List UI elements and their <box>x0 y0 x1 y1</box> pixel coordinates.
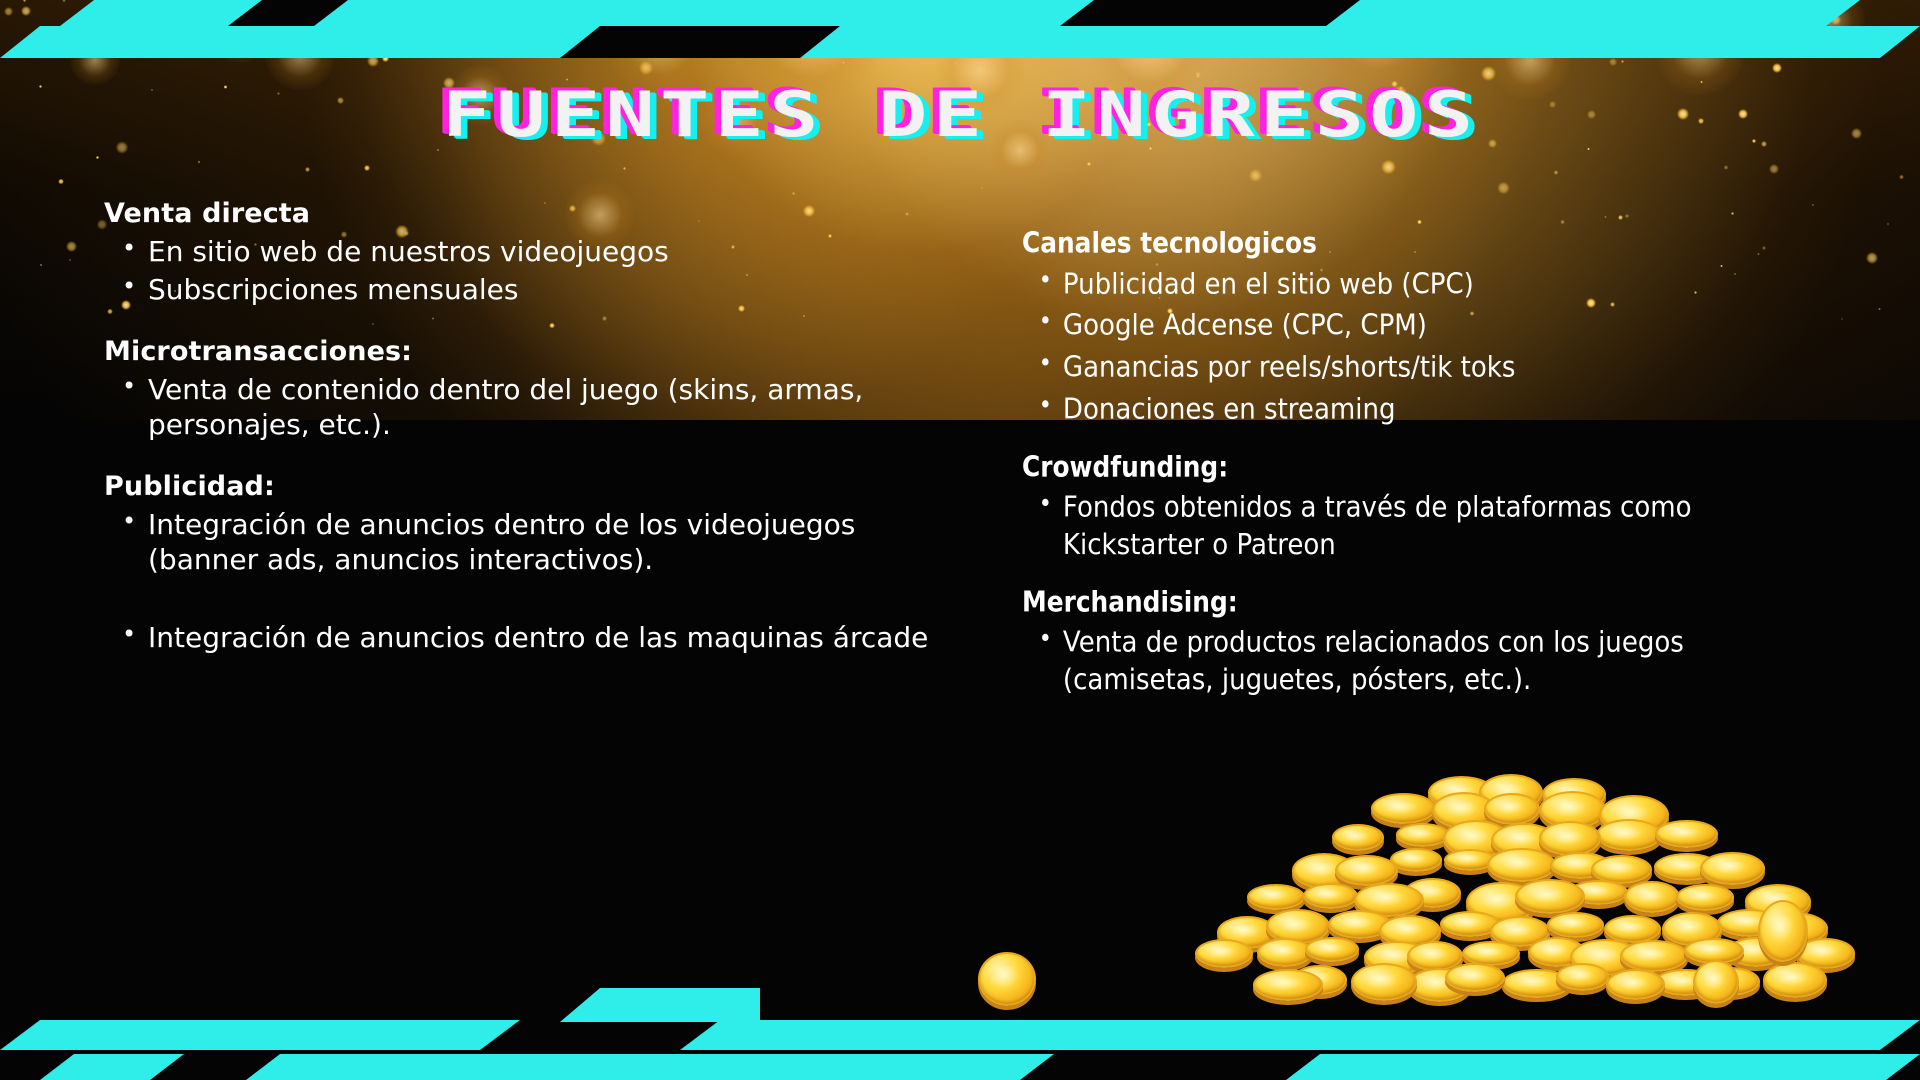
spark-dot <box>244 4 248 8</box>
spark-dot <box>1604 216 1607 219</box>
bullet-list: Publicidad en el sitio web (CPC)Google A… <box>1022 266 1862 426</box>
gold-coin <box>1624 881 1680 913</box>
list-item: Google Adcense (CPC, CPM) <box>1022 307 1803 344</box>
spark-dot <box>1878 308 1880 310</box>
block-heading: Canales tecnologicos <box>1022 227 1795 260</box>
list-item: Donaciones en streaming <box>1022 390 1803 427</box>
spark-dot <box>96 9 101 14</box>
spark-dot <box>1270 28 1273 31</box>
frame-bar-top-notch-mid <box>560 26 840 58</box>
spark-dot <box>1119 3 1121 5</box>
gold-coin <box>1763 962 1827 998</box>
gold-coin <box>1620 940 1688 971</box>
gold-coin <box>1596 819 1662 851</box>
spark-dot <box>623 167 626 170</box>
spark-dot <box>407 1 415 9</box>
gold-coin <box>1247 884 1305 910</box>
spark-dot <box>1091 19 1093 21</box>
spark-dot <box>1166 2 1171 7</box>
frame-bar-top-notch-left <box>228 0 348 26</box>
spark-dot <box>1087 162 1091 166</box>
frame-bar-bottom-2 <box>40 1054 1920 1080</box>
lens-flare <box>213 8 268 63</box>
spark-dot <box>322 2 326 6</box>
gold-coin <box>1676 884 1734 910</box>
spark-dot <box>1769 164 1779 174</box>
spark-dot <box>300 46 304 50</box>
spark-dot <box>1621 60 1624 63</box>
spark-dot <box>443 4 446 7</box>
spark-dot <box>663 13 665 15</box>
spark-dot <box>825 0 827 1</box>
spark-dot <box>367 55 379 67</box>
spark-dot <box>1456 4 1460 8</box>
spark-dot <box>382 55 389 62</box>
spark-dot <box>842 61 845 64</box>
gold-coin <box>1515 879 1585 914</box>
spark-dot <box>1899 175 1903 179</box>
list-item: Venta de contenido dentro del juego (ski… <box>104 372 964 443</box>
gold-coin <box>1655 820 1717 849</box>
spark-dot <box>23 0 26 2</box>
spark-dot <box>887 0 890 2</box>
spark-dot <box>317 38 319 40</box>
spark-dot <box>1618 215 1623 220</box>
gold-coin <box>1305 937 1360 962</box>
list-item: Ganancias por reels/shorts/tik toks <box>1022 348 1803 385</box>
spark-dot <box>579 2 583 6</box>
spark-dot <box>444 4 447 7</box>
spark-dot <box>1530 12 1542 24</box>
frame-bar-bottom-notch-a <box>150 1054 280 1080</box>
list-item: Integración de anuncios dentro de las ma… <box>104 620 964 656</box>
spark-dot <box>180 43 184 47</box>
content-block: Microtransacciones:Venta de contenido de… <box>104 336 964 443</box>
gold-coin <box>1758 900 1808 962</box>
frame-bar-bottom-notch-b <box>480 1020 720 1050</box>
gold-coin <box>1351 963 1417 1001</box>
gold-coin <box>1396 823 1448 846</box>
spark-dot <box>4 7 12 15</box>
block-heading: Venta directa <box>104 198 964 230</box>
bullet-list: Integración de anuncios dentro de los vi… <box>104 507 964 656</box>
gold-coin <box>1335 855 1399 887</box>
bullet-list: En sitio web de nuestros videojuegosSubs… <box>104 234 964 308</box>
spark-dot <box>1609 58 1617 66</box>
slide-canvas: FUENTES DE INGRESOS Venta directaEn siti… <box>0 0 1920 1080</box>
gold-coin <box>1693 960 1739 1004</box>
spark-dot <box>1854 34 1858 38</box>
gold-coin <box>1332 824 1384 851</box>
spark-dot <box>198 161 200 163</box>
gold-coin <box>978 952 1036 1006</box>
spark-dot <box>1512 5 1521 14</box>
spark-dot <box>773 7 785 19</box>
spark-dot <box>792 192 795 195</box>
lens-flare <box>1795 0 1865 55</box>
spark-dot <box>1052 3 1058 9</box>
gold-coin <box>1547 912 1604 938</box>
spark-dot <box>1026 0 1030 2</box>
frame-bar-bottom-notch-c <box>1020 1054 1320 1080</box>
spark-dot <box>1195 71 1202 78</box>
spark-dot <box>1887 223 1889 225</box>
spark-dot <box>1088 0 1090 2</box>
gold-coin <box>1487 848 1556 883</box>
gold-coin <box>1445 963 1505 992</box>
spark-dot <box>1571 0 1586 8</box>
content-block: Publicidad:Integración de anuncios dentr… <box>104 471 964 656</box>
spark-dot <box>1385 28 1391 34</box>
spark-dot <box>1227 0 1229 1</box>
content-block: Canales tecnologicosPublicidad en el sit… <box>1022 228 1862 426</box>
spark-dot <box>1172 22 1178 28</box>
spark-dot <box>321 0 333 10</box>
spark-dot <box>1630 24 1635 29</box>
spark-dot <box>1028 0 1033 3</box>
spark-dot <box>1625 214 1629 218</box>
spark-dot <box>969 17 972 20</box>
spark-dot <box>1417 220 1421 224</box>
gold-coin <box>1700 852 1764 886</box>
gold-coin-pile <box>1138 770 1798 1000</box>
list-item: En sitio web de nuestros videojuegos <box>104 234 964 270</box>
spark-dot <box>1137 19 1143 25</box>
spark-dot <box>1554 170 1558 174</box>
gold-coin <box>1195 939 1253 968</box>
spark-dot <box>21 6 31 16</box>
spark-dot <box>1609 42 1623 56</box>
spark-dot <box>96 156 99 159</box>
block-heading: Crowdfunding: <box>1022 451 1795 484</box>
bullet-list: Fondos obtenidos a través de plataformas… <box>1022 490 1862 561</box>
gold-coin <box>1539 821 1602 856</box>
spark-dot <box>58 179 63 184</box>
spark-dot <box>1132 4 1134 6</box>
bullet-list: Venta de contenido dentro del juego (ski… <box>104 372 964 443</box>
spark-dot <box>1866 252 1878 264</box>
spark-dot <box>1744 6 1750 12</box>
spark-dot <box>1696 0 1711 8</box>
spark-dot <box>1772 63 1782 73</box>
spark-dot <box>1794 44 1801 51</box>
gold-coin <box>1606 969 1666 1000</box>
gold-coin <box>1484 793 1539 825</box>
spark-dot <box>1668 2 1673 7</box>
content-block: Venta directaEn sitio web de nuestros vi… <box>104 198 964 308</box>
spark-dot <box>182 47 189 54</box>
spark-dot <box>731 16 737 22</box>
frame-bar-bottom-step <box>560 988 760 1022</box>
spark-dot <box>305 167 309 171</box>
right-content-column: Canales tecnologicosPublicidad en el sit… <box>1022 228 1862 722</box>
spark-dot <box>1724 165 1728 169</box>
spark-dot <box>1560 220 1565 225</box>
spark-dot <box>954 62 957 65</box>
spark-dot <box>487 0 490 2</box>
spark-dot <box>1381 160 1395 174</box>
gold-coin <box>1556 963 1610 990</box>
spark-dot <box>69 259 71 261</box>
spark-dot <box>590 46 593 49</box>
spark-dot <box>1249 169 1262 182</box>
spark-dot <box>637 13 640 16</box>
spark-dot <box>1400 0 1404 4</box>
gold-coin <box>1253 969 1324 1001</box>
frame-bar-top-2 <box>0 26 1920 58</box>
frame-bar-top-notch-right <box>1060 0 1360 26</box>
block-heading: Publicidad: <box>104 471 964 503</box>
spark-dot <box>1831 15 1841 25</box>
frame-bar-bottom-1 <box>0 1020 1920 1050</box>
spark-dot <box>364 165 370 171</box>
spark-dot <box>1731 212 1733 214</box>
gold-coin <box>1371 793 1437 824</box>
page-title: FUENTES DE INGRESOS <box>0 78 1920 151</box>
list-item: Venta de productos relacionados con los … <box>1022 624 1803 697</box>
bullet-list: Venta de productos relacionados con los … <box>1022 625 1862 696</box>
block-heading: Merchandising: <box>1022 586 1795 619</box>
list-item: Integración de anuncios dentro de los vi… <box>104 507 964 578</box>
frame-bar-top-1 <box>60 0 1860 26</box>
spark-dot <box>288 13 300 25</box>
list-item: Subscripciones mensuales <box>104 272 964 308</box>
spark-dot <box>955 2 957 4</box>
spark-dot <box>981 187 983 189</box>
gold-coin <box>1303 883 1358 909</box>
spark-dot <box>40 264 42 266</box>
left-content-column: Venta directaEn sitio web de nuestros vi… <box>104 198 964 683</box>
block-heading: Microtransacciones: <box>104 336 964 368</box>
spark-dot <box>1449 2 1451 4</box>
spark-dot <box>62 0 65 2</box>
spark-dot <box>66 241 77 252</box>
spark-dot <box>1024 5 1027 8</box>
frame-bar-top-step <box>890 26 1150 58</box>
spark-dot <box>639 61 654 76</box>
content-block: Merchandising:Venta de productos relacio… <box>1022 587 1862 696</box>
content-block: Crowdfunding:Fondos obtenidos a través d… <box>1022 452 1862 561</box>
spark-dot <box>1812 204 1814 206</box>
spark-dot <box>1497 182 1509 194</box>
list-item: Publicidad en el sitio web (CPC) <box>1022 265 1803 302</box>
list-item: Fondos obtenidos a través de plataformas… <box>1022 489 1803 562</box>
